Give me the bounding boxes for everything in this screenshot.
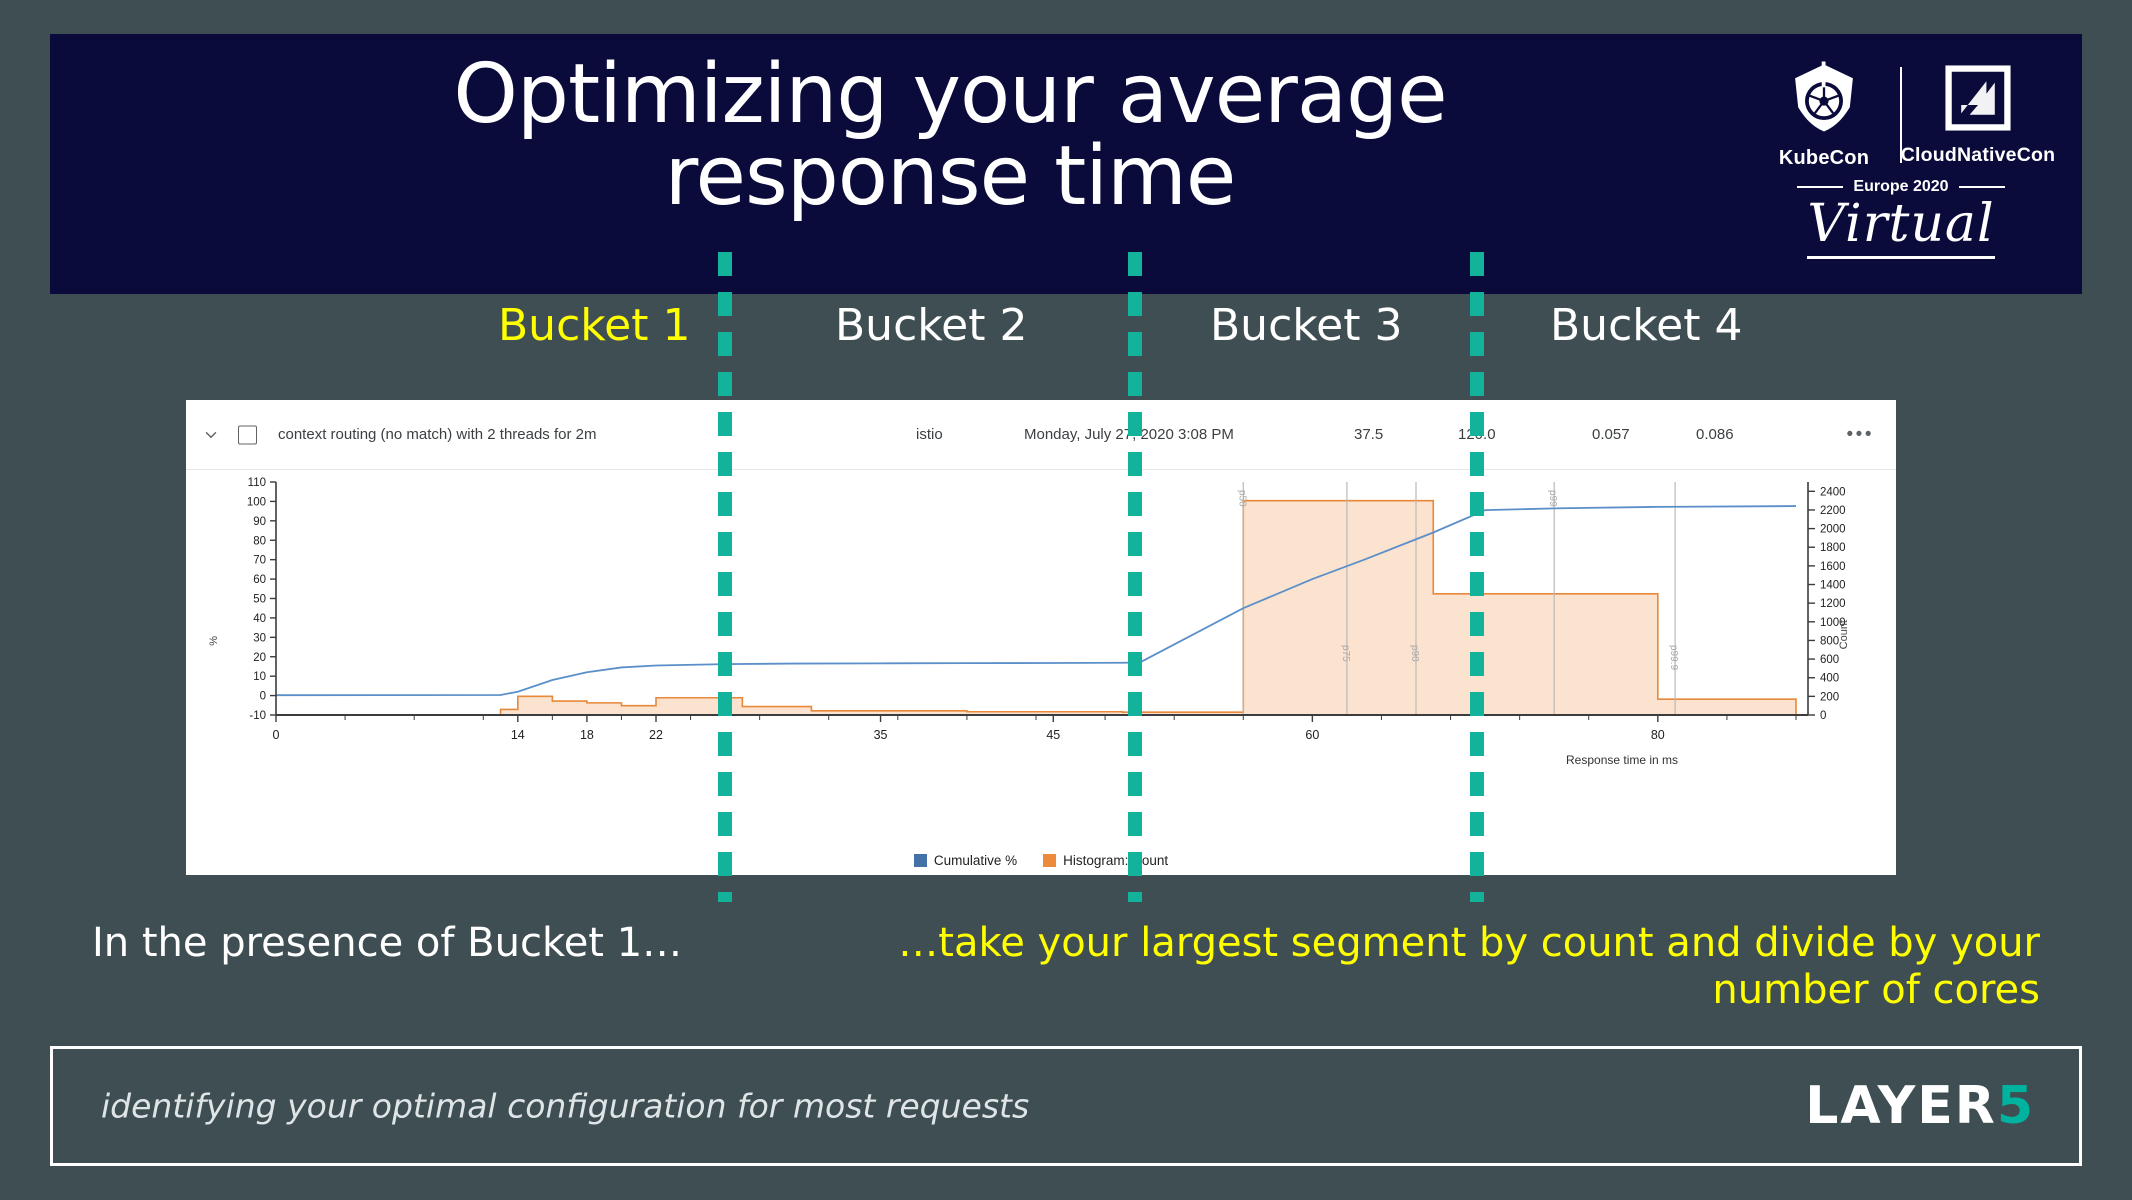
bucket-label-4: Bucket 4 — [1550, 300, 1742, 351]
conference-logo: KubeCon CloudNativeCon Europe 2020 — [1756, 60, 2046, 280]
svg-text:60: 60 — [1305, 728, 1319, 742]
page-title: Optimizing your average response time — [170, 54, 1730, 218]
y2-axis-title: Count — [1838, 620, 1850, 649]
layer5-logo: LAYER5 — [1805, 1076, 2035, 1136]
svg-text:14: 14 — [511, 728, 525, 742]
footer-bar: identifying your optimal configuration f… — [50, 1046, 2082, 1166]
title-line-2: response time — [170, 136, 1730, 218]
svg-text:p50: p50 — [1236, 490, 1247, 507]
result-metric-3: 0.057 — [1592, 426, 1630, 443]
chart-canvas: p50p75p90p99p99.9-1001020304050607080901… — [186, 470, 1896, 874]
svg-text:70: 70 — [253, 555, 266, 567]
caption-right: …take your largest segment by count and … — [790, 920, 2040, 1014]
result-mesh: istio — [916, 426, 943, 443]
svg-text:0: 0 — [1820, 710, 1826, 722]
cloudnativecon-square-icon — [1943, 63, 2013, 138]
title-line-1: Optimizing your average — [453, 47, 1446, 142]
bucket-label-row: Bucket 1 Bucket 2 Bucket 3 Bucket 4 — [0, 300, 2132, 370]
cloudnativecon-label: CloudNativeCon — [1901, 144, 2055, 167]
bucket-label-1: Bucket 1 — [498, 300, 690, 351]
svg-text:45: 45 — [1046, 728, 1060, 742]
bucket-label-3: Bucket 3 — [1210, 300, 1402, 351]
legend-item-histogram: Histogram: Count — [1043, 853, 1168, 868]
svg-text:30: 30 — [253, 632, 266, 644]
svg-text:p75: p75 — [1340, 645, 1351, 662]
result-name: context routing (no match) with 2 thread… — [278, 426, 596, 443]
svg-text:1200: 1200 — [1820, 598, 1846, 610]
layer5-five: 5 — [1997, 1076, 2035, 1136]
svg-text:2000: 2000 — [1820, 524, 1846, 536]
overflow-menu-icon[interactable]: ••• — [1847, 424, 1874, 446]
row-checkbox[interactable] — [238, 425, 257, 444]
bucket-divider-2 — [1128, 252, 1142, 902]
svg-text:2200: 2200 — [1820, 505, 1846, 517]
svg-text:1400: 1400 — [1820, 580, 1846, 592]
legend-item-cumulative: Cumulative % — [914, 853, 1017, 868]
caption-right-line-2: number of cores — [790, 967, 2040, 1014]
svg-text:p90: p90 — [1409, 645, 1420, 662]
x-axis-title: Response time in ms — [1566, 753, 1678, 767]
result-row-header: context routing (no match) with 2 thread… — [186, 400, 1896, 470]
chevron-down-icon[interactable] — [202, 426, 220, 444]
svg-text:100: 100 — [247, 496, 266, 508]
svg-text:200: 200 — [1820, 691, 1839, 703]
legend-swatch-histogram — [1043, 854, 1056, 867]
results-card: context routing (no match) with 2 thread… — [186, 400, 1896, 875]
kubecon-label: KubeCon — [1779, 147, 1869, 170]
svg-text:800: 800 — [1820, 635, 1839, 647]
histogram-chart: p50p75p90p99p99.9-1001020304050607080901… — [186, 470, 1896, 874]
y-axis-title: % — [208, 636, 220, 646]
result-metric-1: 37.5 — [1354, 426, 1383, 443]
svg-text:60: 60 — [253, 574, 266, 586]
svg-text:35: 35 — [874, 728, 888, 742]
svg-text:110: 110 — [248, 477, 266, 489]
svg-text:40: 40 — [253, 613, 266, 625]
svg-text:90: 90 — [253, 516, 266, 528]
svg-text:1800: 1800 — [1820, 542, 1846, 554]
layer5-word: LAYER — [1805, 1076, 1997, 1136]
svg-text:22: 22 — [649, 728, 663, 742]
title-band: Optimizing your average response time — [50, 34, 2082, 294]
bucket-label-2: Bucket 2 — [835, 300, 1027, 351]
svg-text:400: 400 — [1820, 673, 1839, 685]
svg-text:80: 80 — [253, 535, 266, 547]
caption-left: In the presence of Bucket 1… — [92, 920, 792, 966]
svg-text:1600: 1600 — [1820, 561, 1846, 573]
svg-text:80: 80 — [1651, 728, 1665, 742]
svg-text:0: 0 — [273, 728, 280, 742]
bucket-divider-1 — [718, 252, 732, 902]
legend-swatch-cumulative — [914, 854, 927, 867]
kubernetes-helm-icon — [1786, 60, 1862, 141]
result-metric-4: 0.086 — [1696, 426, 1734, 443]
svg-text:20: 20 — [253, 652, 266, 664]
slide-root: Optimizing your average response time — [0, 0, 2132, 1200]
svg-text:0: 0 — [260, 691, 266, 703]
svg-text:50: 50 — [253, 594, 266, 606]
caption-right-line-1: …take your largest segment by count and … — [790, 920, 2040, 967]
svg-text:10: 10 — [253, 671, 266, 683]
bucket-divider-3 — [1470, 252, 1484, 902]
virtual-label: Virtual — [1756, 198, 2046, 250]
svg-text:18: 18 — [580, 728, 594, 742]
svg-text:p99.9: p99.9 — [1668, 645, 1679, 670]
footer-tagline: identifying your optimal configuration f… — [101, 1087, 1029, 1126]
svg-text:-10: -10 — [249, 710, 266, 722]
svg-text:2400: 2400 — [1820, 486, 1846, 498]
svg-text:600: 600 — [1820, 654, 1839, 666]
chart-legend: Cumulative % Histogram: Count — [186, 853, 1896, 868]
svg-text:p99: p99 — [1547, 490, 1558, 507]
